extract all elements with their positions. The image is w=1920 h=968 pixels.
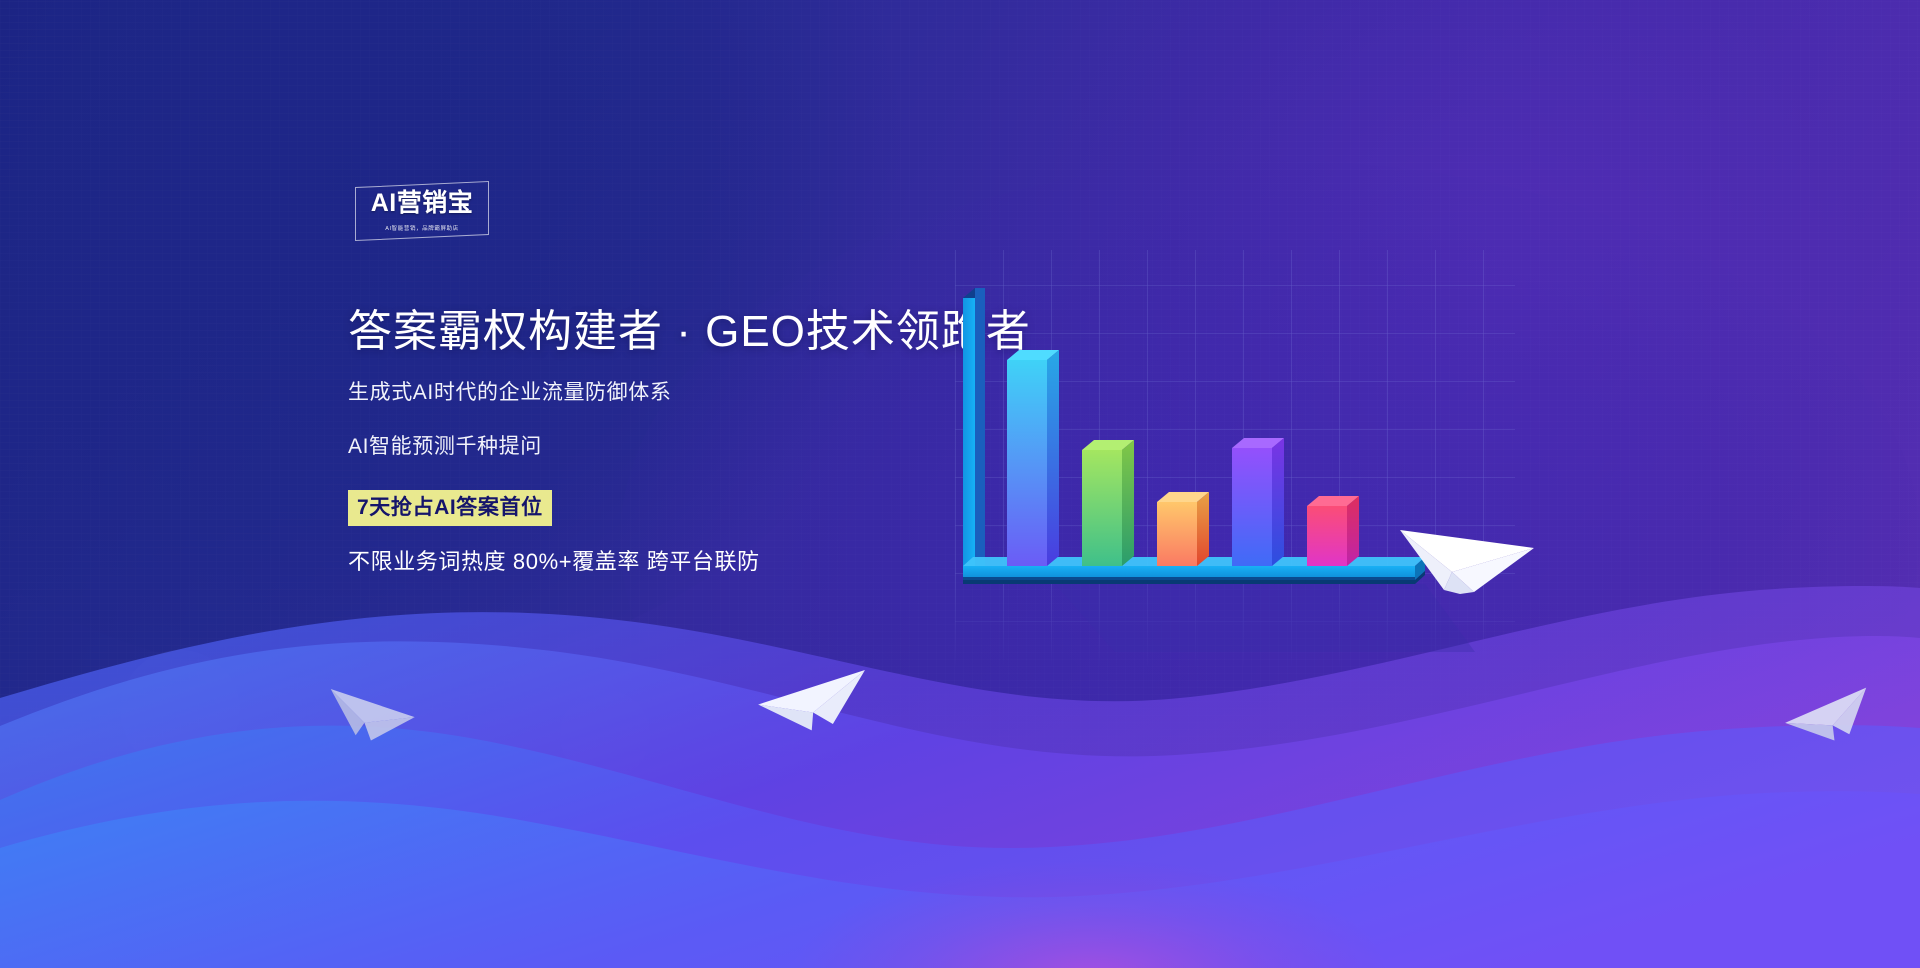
- chart-bar-4: [1232, 438, 1284, 566]
- hero-banner: AI营销宝 AI智能营销，品牌霸屏助店 答案霸权构建者 · GEO技术领跑者 生…: [0, 0, 1920, 968]
- logo-tagline: AI智能营销，品牌霸屏助店: [355, 227, 489, 233]
- brand-logo[interactable]: AI营销宝 AI智能营销，品牌霸屏助店: [355, 184, 489, 238]
- decorative-circle: [560, 690, 650, 780]
- bar-chart-illustration: [955, 280, 1475, 680]
- chart-bar-2: [1082, 440, 1134, 566]
- paper-plane-icon: [1392, 494, 1542, 614]
- chart-bar-3: [1157, 492, 1209, 566]
- decorative-circle: [120, 650, 240, 770]
- logo-wordmark: AI营销宝: [355, 191, 489, 216]
- paper-plane-icon: [742, 638, 892, 758]
- highlight-badge: 7天抢占AI答案首位: [348, 490, 552, 526]
- chart-y-axis: [963, 288, 985, 580]
- paper-plane-icon: [1778, 668, 1888, 763]
- paper-plane-icon: [316, 668, 426, 763]
- chart-bar-1: [1007, 350, 1059, 566]
- chart-bar-5: [1307, 496, 1359, 566]
